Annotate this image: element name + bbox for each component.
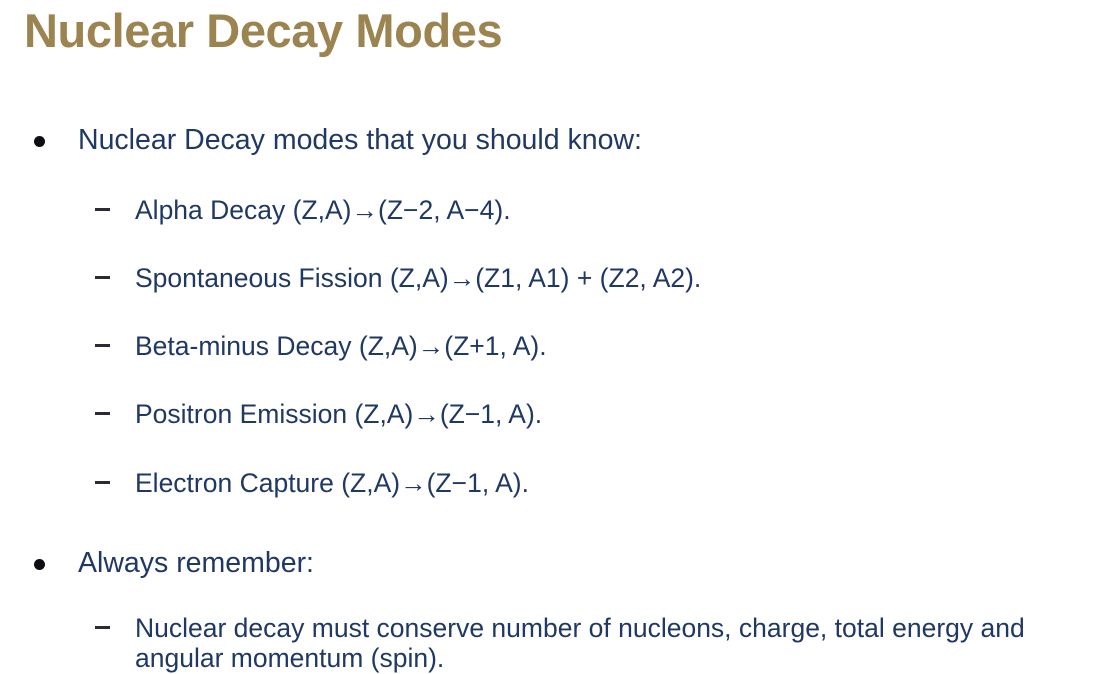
sub-bullet-label: Positron Emission (Z,A)→(Z−1, A). <box>135 399 1118 430</box>
bullet-dot-icon <box>34 136 45 147</box>
dash-icon <box>95 276 110 279</box>
slide: Nuclear Decay Modes Nuclear Decay modes … <box>0 0 1118 663</box>
sub-bullet-item-spontaneous-fission: Spontaneous Fission (Z,A)→(Z1, A1) + (Z2… <box>0 263 1118 294</box>
sub-bullet-label: Electron Capture (Z,A)→(Z−1, A). <box>135 468 1118 499</box>
page-title: Nuclear Decay Modes <box>24 2 502 59</box>
sub-bullet-label: Spontaneous Fission (Z,A)→(Z1, A1) + (Z2… <box>135 263 1118 294</box>
dash-icon <box>95 208 110 211</box>
dash-icon <box>95 412 110 415</box>
bullet-level1-label: Nuclear Decay modes that you should know… <box>78 124 1118 158</box>
dash-icon <box>95 344 110 347</box>
bullet-level1-label: Always remember: <box>78 547 1118 581</box>
sub-bullet-item-positron-emission: Positron Emission (Z,A)→(Z−1, A). <box>0 399 1118 430</box>
sub-bullet-item-beta-minus-decay: Beta-minus Decay (Z,A)→(Z+1, A). <box>0 331 1118 362</box>
sub-bullet-item-alpha-decay: Alpha Decay (Z,A)→(Z−2, A−4). <box>0 195 1118 226</box>
sub-bullet-label: Beta-minus Decay (Z,A)→(Z+1, A). <box>135 331 1118 362</box>
sub-bullet-label: Nuclear decay must conserve number of nu… <box>135 613 1094 674</box>
sub-bullet-label: Alpha Decay (Z,A)→(Z−2, A−4). <box>135 195 1118 226</box>
slide-body: Nuclear Decay modes that you should know… <box>0 124 1118 674</box>
sub-bullet-item-electron-capture: Electron Capture (Z,A)→(Z−1, A). <box>0 468 1118 499</box>
bullet-item-level1: Always remember: <box>0 547 1118 581</box>
bullet-dot-icon <box>34 559 45 570</box>
dash-icon <box>95 481 110 484</box>
bullet-item-level1: Nuclear Decay modes that you should know… <box>0 124 1118 158</box>
dash-icon <box>95 626 110 629</box>
sub-bullet-item-conservation-rule: Nuclear decay must conserve number of nu… <box>0 613 1118 674</box>
bullet-group-decay-modes: Nuclear Decay modes that you should know… <box>0 124 1118 499</box>
bullet-group-always-remember: Always remember: Nuclear decay must cons… <box>0 547 1118 674</box>
